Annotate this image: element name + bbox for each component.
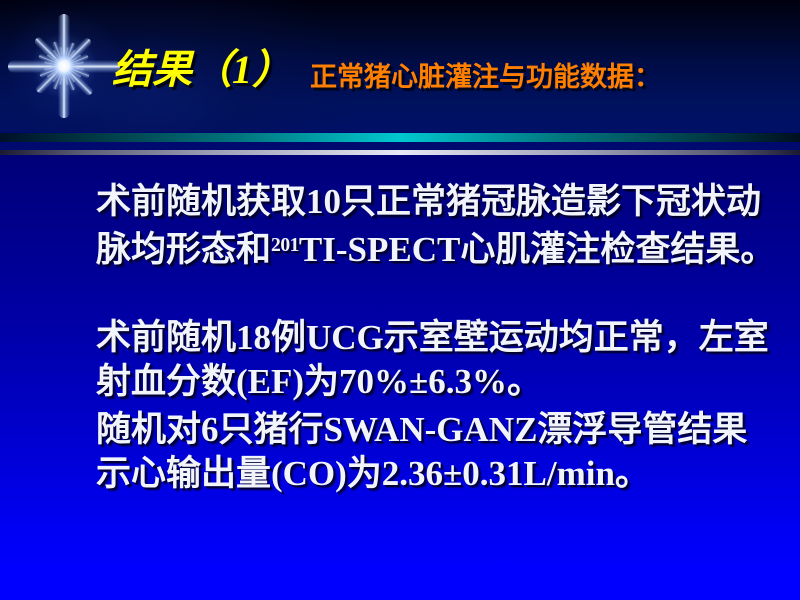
isotope-superscript: 201 <box>271 235 299 256</box>
presentation-slide: 结果（1） 正常猪心脏灌注与功能数据： 术前随机获取10只正常猪冠脉造影下冠状动… <box>0 0 800 600</box>
body-paragraph-2: 术前随机18例UCG示室壁运动均正常，左室射血分数(EF)为70%±6.3%。 <box>96 316 776 404</box>
body-paragraph-3: 随机对6只猪行SWAN-GANZ漂浮导管结果示心输出量(CO)为2.36±0.3… <box>96 408 776 496</box>
sparkle-star-icon <box>6 8 122 124</box>
divider-bar-silver <box>0 150 800 155</box>
paragraph-1-text-post: TI-SPECT心肌灌注检查结果。 <box>299 230 775 269</box>
slide-subtitle: 正常猪心脏灌注与功能数据： <box>310 64 661 91</box>
divider-bar-teal <box>0 133 800 142</box>
slide-title: 结果（1） <box>112 50 292 90</box>
body-paragraph-1: 术前随机获取10只正常猪冠脉造影下冠状动脉均形态和201TI-SPECT心肌灌注… <box>96 180 776 272</box>
divider-bar-navy <box>0 142 800 150</box>
star-core <box>51 53 77 79</box>
slide-body: 术前随机获取10只正常猪冠脉造影下冠状动脉均形态和201TI-SPECT心肌灌注… <box>0 156 800 600</box>
